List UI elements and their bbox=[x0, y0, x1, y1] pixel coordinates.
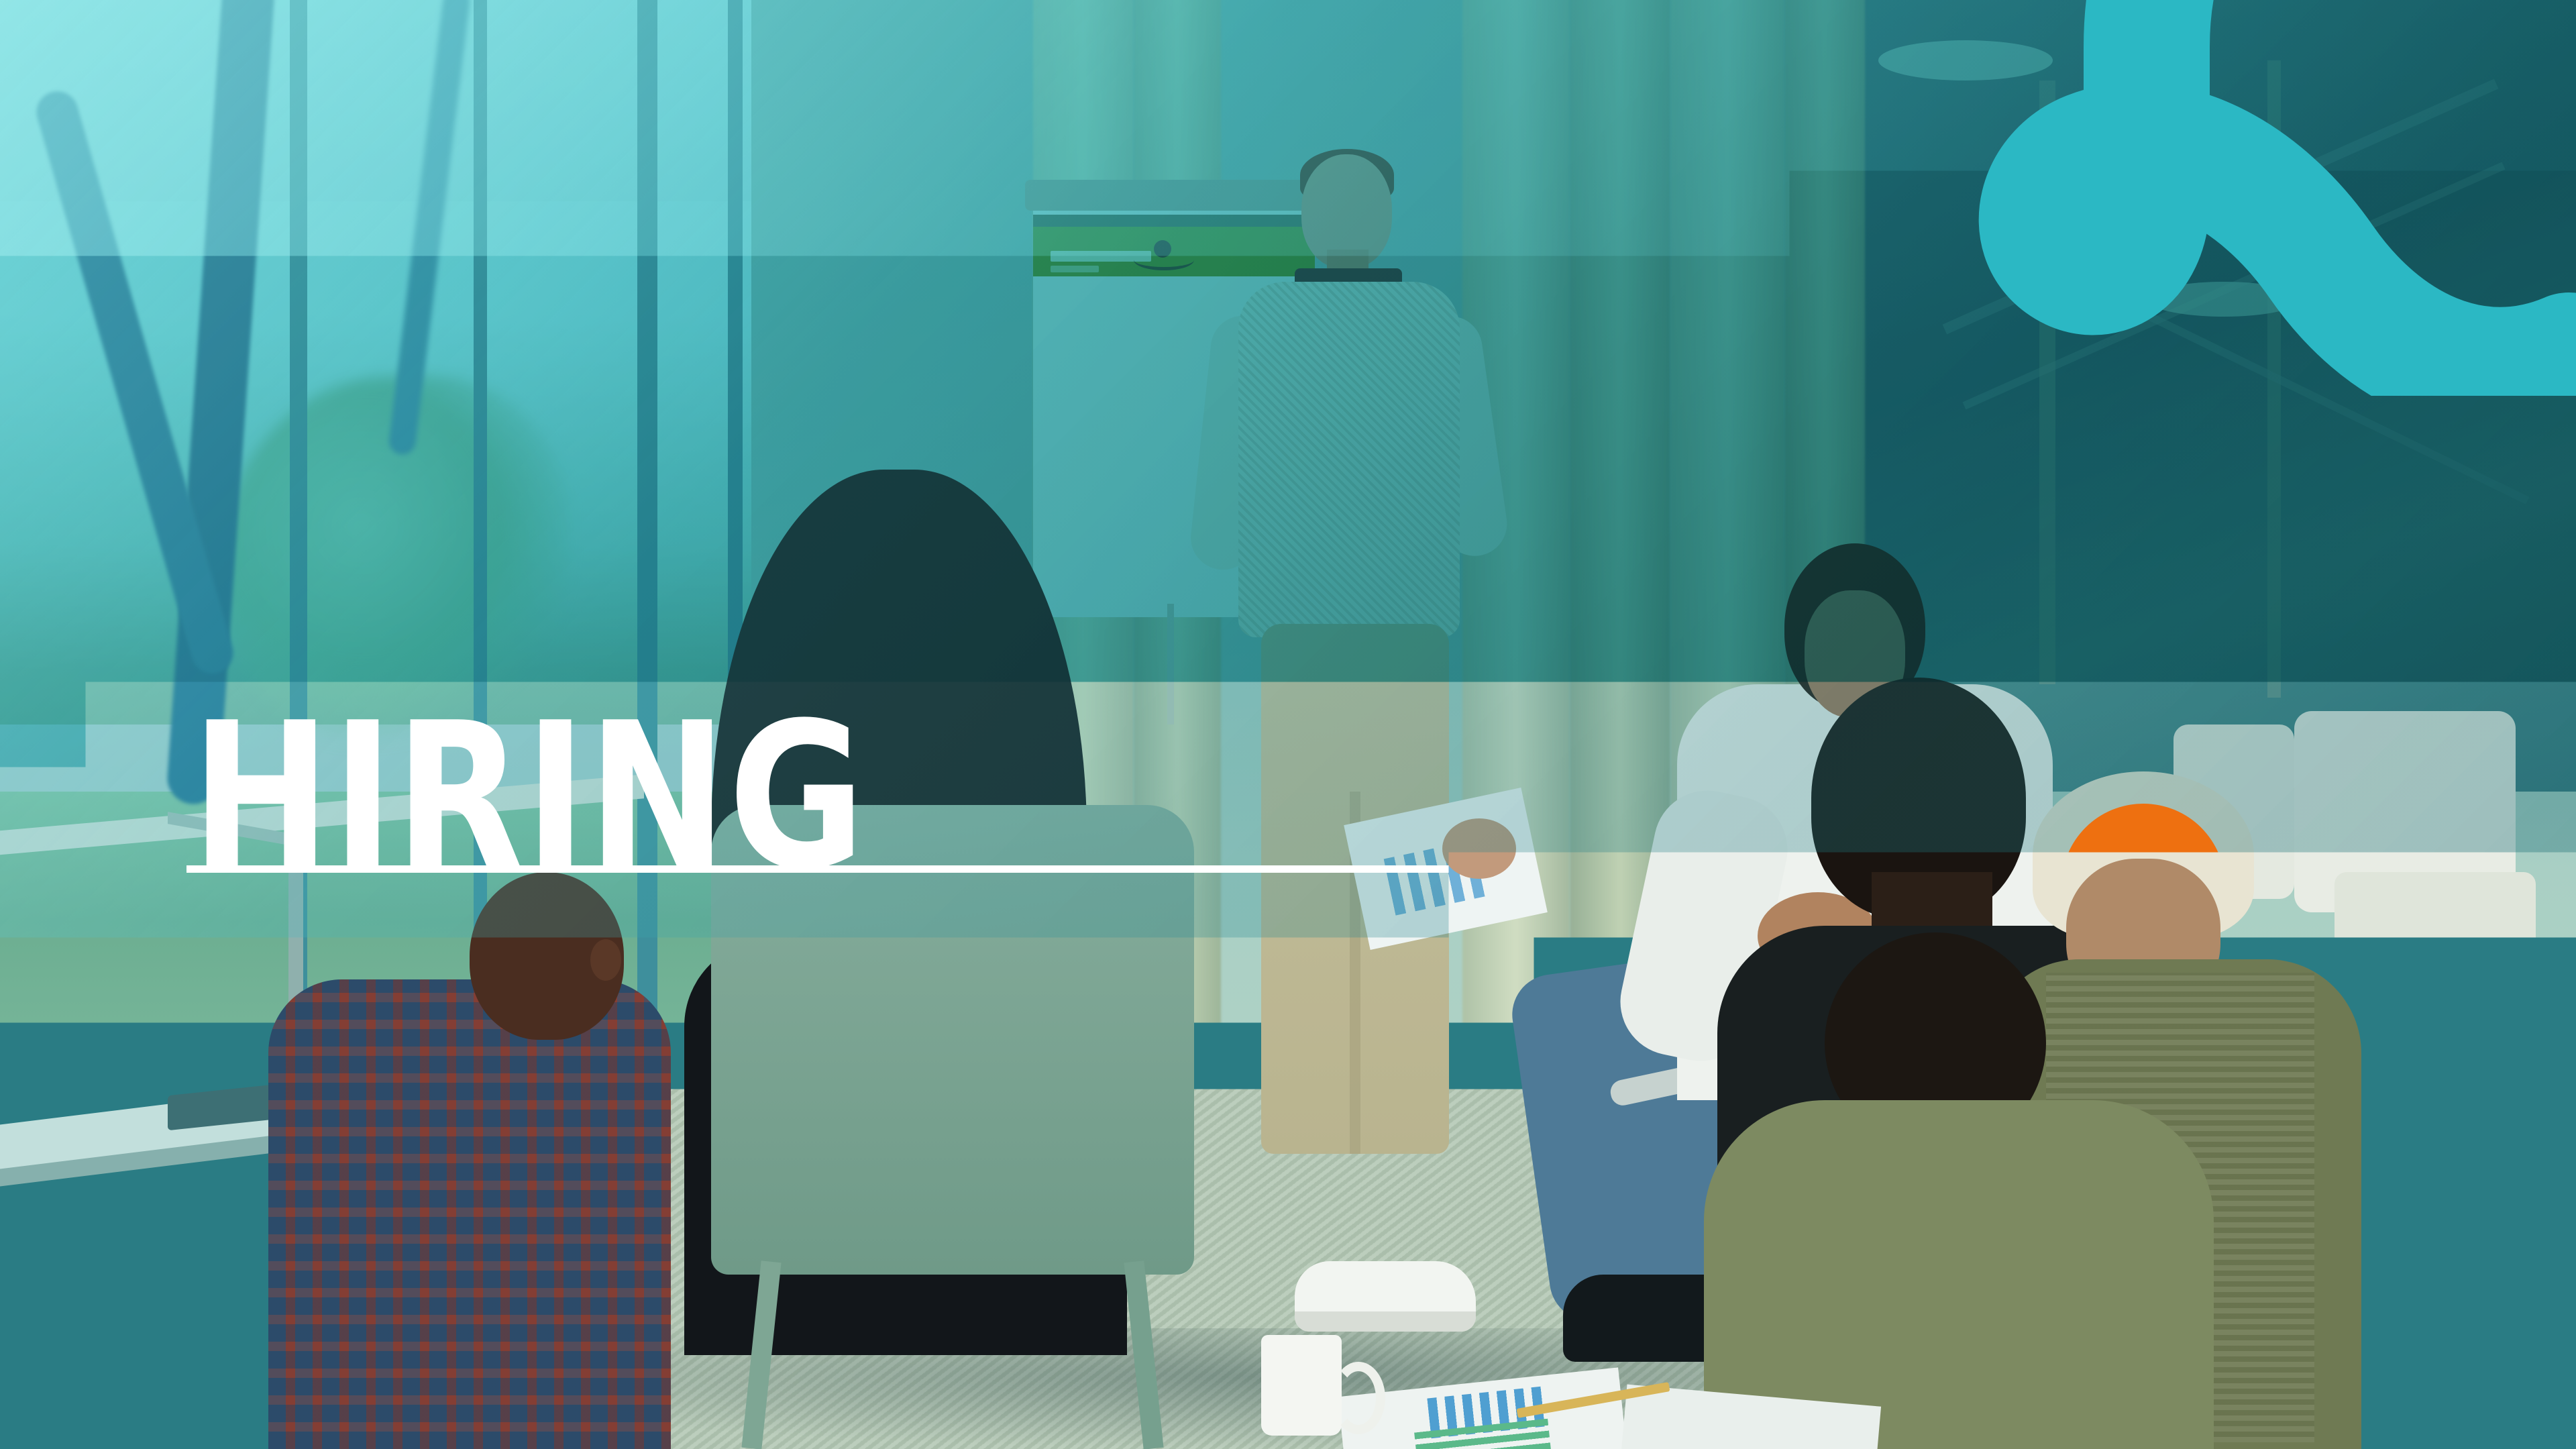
poster-content: HIRING GREAT TALENT WELCOME TO OUR NEW H… bbox=[0, 0, 2576, 1449]
headline-line-2: GREAT TALENT bbox=[191, 1281, 1981, 1449]
subtitle: WELCOME TO OUR NEW HIRE bbox=[233, 994, 971, 1052]
divider-rule bbox=[186, 865, 1815, 873]
page-title: HIRING GREAT TALENT bbox=[191, 309, 1981, 1449]
hiring-poster: HIRING GREAT TALENT WELCOME TO OUR NEW H… bbox=[0, 0, 2576, 1449]
